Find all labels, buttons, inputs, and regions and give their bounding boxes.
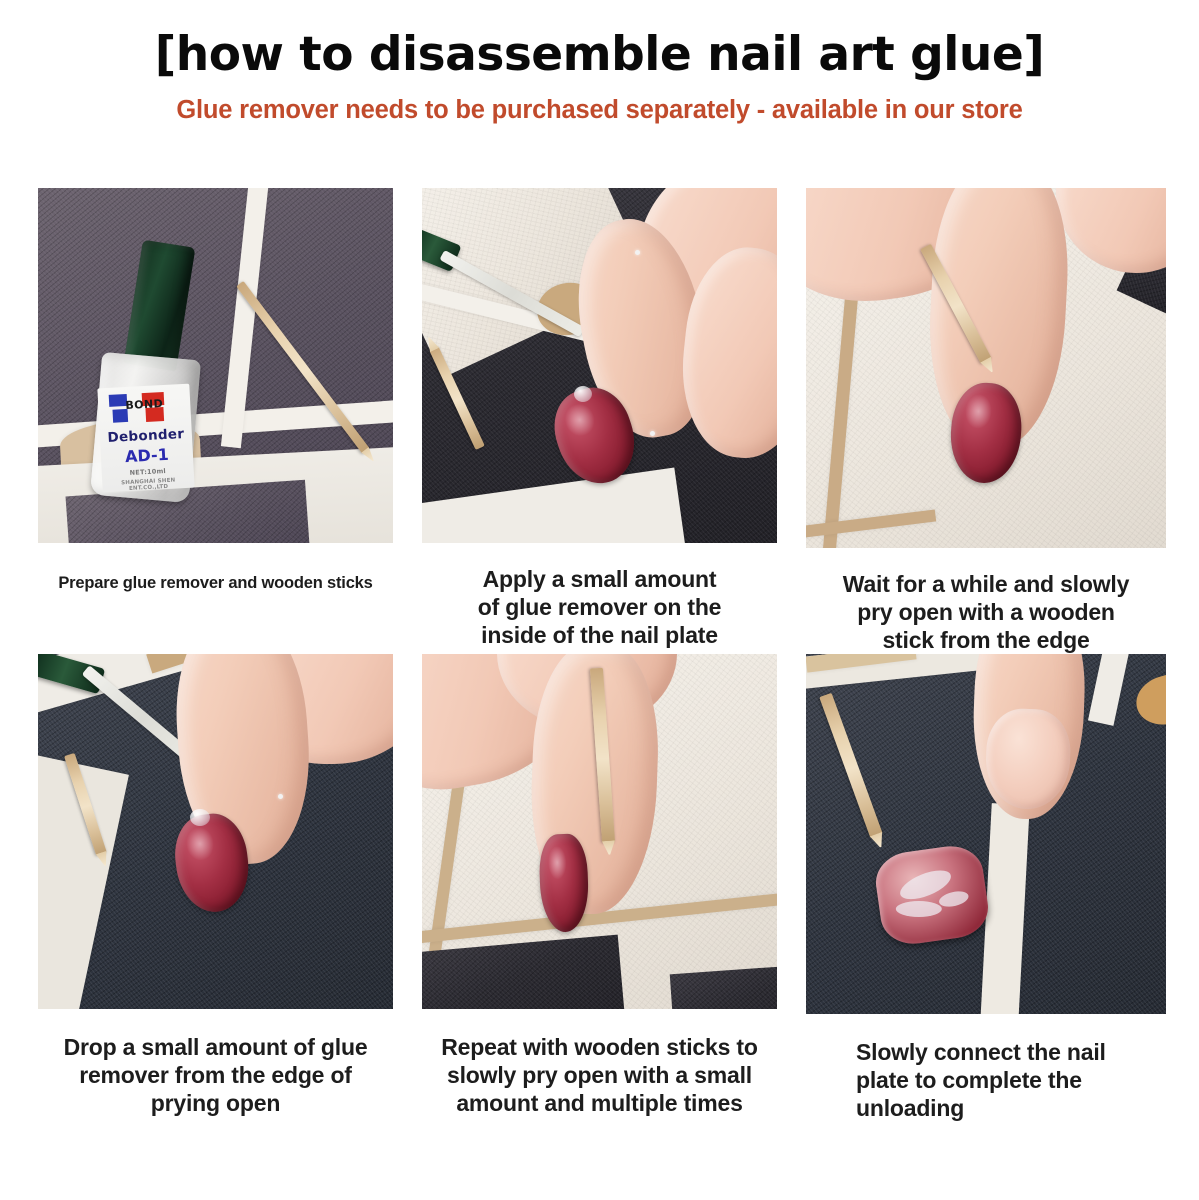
step-caption-3: Wait for a while and slowly pry open wit…	[806, 548, 1166, 654]
step-photo-2	[422, 188, 777, 543]
label-model-text: AD-1	[100, 444, 193, 468]
step-caption-1: Prepare glue remover and wooden sticks	[38, 543, 393, 593]
scene-nail-removed	[806, 654, 1166, 1014]
scene-stick-pry-edge	[806, 188, 1166, 548]
step-photo-5	[422, 654, 777, 1009]
step-card-4: Drop a small amount of glue remover from…	[38, 654, 393, 1122]
surface-speck	[635, 250, 640, 255]
step-card-5: Repeat with wooden sticks to slowly pry …	[422, 654, 777, 1122]
page-header: [how to disassemble nail art glue] Glue …	[0, 0, 1199, 124]
step-card-2: Apply a small amount of glue remover on …	[422, 188, 777, 654]
surface-speck	[650, 431, 655, 436]
step-card-3: Wait for a while and slowly pry open wit…	[806, 188, 1166, 654]
step-caption-2: Apply a small amount of glue remover on …	[422, 543, 777, 649]
chip-highlight	[896, 901, 942, 917]
step-caption-5: Repeat with wooden sticks to slowly pry …	[422, 1009, 777, 1117]
step-photo-6	[806, 654, 1166, 1014]
bottle-label: BOND Debonder AD-1 NET:10ml SHANGHAI SHE…	[97, 384, 194, 493]
page-title: [how to disassemble nail art glue]	[0, 30, 1199, 79]
scene-repeat-pry	[422, 654, 777, 1009]
scene-bottle-and-sticks: BOND Debonder AD-1 NET:10ml SHANGHAI SHE…	[38, 188, 393, 543]
glue-drop	[574, 386, 592, 402]
step-card-1: BOND Debonder AD-1 NET:10ml SHANGHAI SHE…	[38, 188, 393, 654]
scene-drop-glue-edge	[38, 654, 393, 1009]
page-subtitle: Glue remover needs to be purchased separ…	[0, 96, 1199, 124]
steps-grid: BOND Debonder AD-1 NET:10ml SHANGHAI SHE…	[38, 188, 1166, 1122]
step-card-6: Slowly connect the nail plate to complet…	[806, 654, 1166, 1122]
step-photo-1: BOND Debonder AD-1 NET:10ml SHANGHAI SHE…	[38, 188, 393, 543]
step-photo-4	[38, 654, 393, 1009]
scene-brush-on-nail	[422, 188, 777, 543]
chip-highlight	[938, 889, 970, 909]
step-caption-4: Drop a small amount of glue remover from…	[38, 1009, 393, 1117]
step-photo-3	[806, 188, 1166, 548]
step-caption-6: Slowly connect the nail plate to complet…	[806, 1014, 1166, 1122]
